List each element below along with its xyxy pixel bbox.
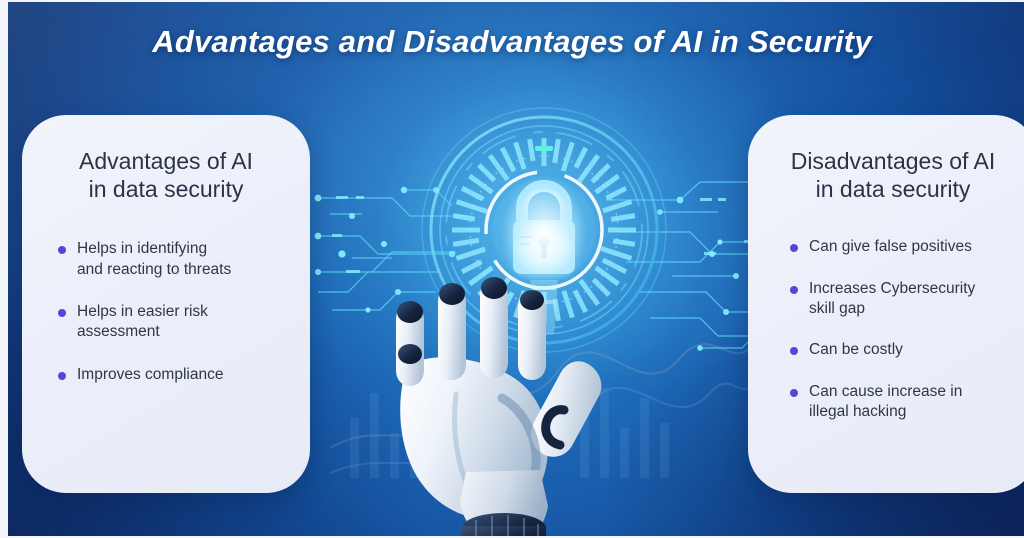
list-item: Improves compliance xyxy=(58,365,290,385)
bullet-dot-icon xyxy=(58,372,66,380)
list-item: Can give false positives xyxy=(790,237,1018,257)
list-item: Helps in easier risk assessment xyxy=(58,302,290,343)
page-title-text: Advantages and Disadvantages of AI in Se… xyxy=(152,24,872,60)
padlock-icon xyxy=(513,186,575,274)
list-item: Can cause increase in illegal hacking xyxy=(790,382,1018,423)
background-wave-graph xyxy=(330,298,750,498)
infographic-canvas: Advantages and Disadvantages of AI in Se… xyxy=(0,0,1024,538)
list-item-label: Can be costly xyxy=(809,340,903,360)
list-item-label: Helps in identifying and reacting to thr… xyxy=(77,239,231,280)
padlock-glow xyxy=(504,182,584,278)
list-item: Can be costly xyxy=(790,340,1018,360)
list-item-label: Improves compliance xyxy=(77,365,223,385)
list-item: Helps in identifying and reacting to thr… xyxy=(58,239,290,280)
hud-lock-graphic xyxy=(418,104,670,356)
disadvantages-bullet-list: Can give false positives Increases Cyber… xyxy=(768,237,1018,444)
hud-rings xyxy=(418,104,670,356)
hud-glow xyxy=(378,64,710,396)
bullet-dot-icon xyxy=(790,389,798,397)
list-item-label: Can cause increase in illegal hacking xyxy=(809,382,962,423)
page-title: Advantages and Disadvantages of AI in Se… xyxy=(0,24,1024,60)
bullet-dot-icon xyxy=(790,244,798,252)
disadvantages-card: Disadvantages of AI in data security Can… xyxy=(748,115,1024,493)
robotic-hand-icon xyxy=(352,258,652,538)
bullet-dot-icon xyxy=(790,347,798,355)
list-item-label: Can give false positives xyxy=(809,237,972,257)
frame-edge-top xyxy=(0,0,1024,2)
advantages-card-heading: Advantages of AI in data security xyxy=(42,147,290,203)
frame-edge-left xyxy=(0,0,8,538)
list-item: Increases Cybersecurity skill gap xyxy=(790,279,1018,320)
bullet-dot-icon xyxy=(58,309,66,317)
advantages-bullet-list: Helps in identifying and reacting to thr… xyxy=(42,239,290,407)
list-item-label: Increases Cybersecurity skill gap xyxy=(809,279,975,320)
list-item-label: Helps in easier risk assessment xyxy=(77,302,208,343)
bullet-dot-icon xyxy=(58,246,66,254)
disadvantages-card-heading: Disadvantages of AI in data security xyxy=(768,147,1018,203)
bullet-dot-icon xyxy=(790,286,798,294)
advantages-card: Advantages of AI in data security Helps … xyxy=(22,115,310,493)
